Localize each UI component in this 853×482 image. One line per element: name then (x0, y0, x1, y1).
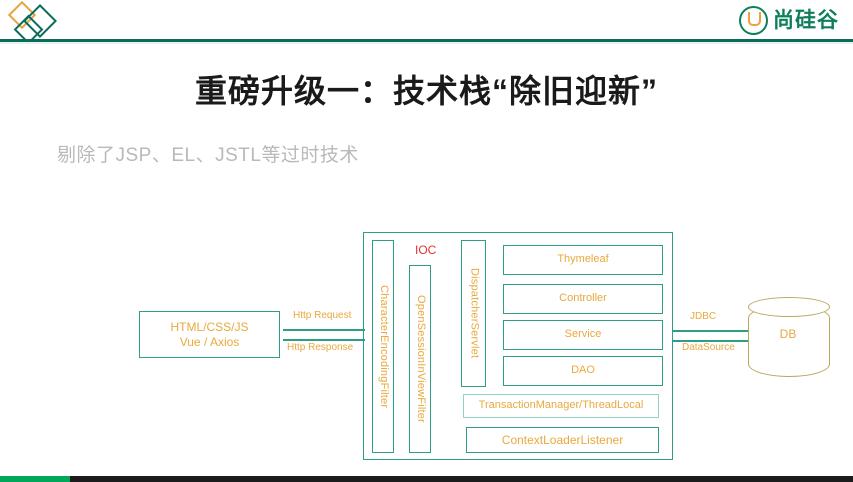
connector-label-datasource: DataSource (682, 342, 735, 353)
node-label: Service (565, 328, 602, 342)
diagram-node-transaction-manager: TransactionManager/ThreadLocal (463, 394, 659, 418)
node-label: DAO (571, 364, 595, 378)
slide-header (0, 0, 853, 42)
connector-line-http-response (283, 339, 365, 341)
diagram-node-open-session-in-view-filter: OpenSessionInViewFilter (409, 265, 431, 453)
diagram-node-controller: Controller (503, 284, 663, 314)
connector-label-http-request: Http Request (293, 310, 351, 321)
database-cylinder-top (748, 297, 830, 317)
connector-line-http-request (283, 329, 365, 331)
node-label: TransactionManager/ThreadLocal (479, 399, 644, 413)
node-label: Thymeleaf (557, 253, 608, 267)
header-divider-shadow (0, 42, 853, 44)
client-tech-frontend: HTML/CSS/JS (170, 320, 248, 335)
client-tech-framework: Vue / Axios (180, 335, 240, 350)
node-label: Controller (559, 292, 607, 306)
video-progress-fill[interactable] (0, 476, 70, 482)
diagram-node-dao: DAO (503, 356, 663, 386)
diagram-node-thymeleaf: Thymeleaf (503, 245, 663, 275)
connector-line-jdbc (673, 330, 751, 332)
node-label: ContextLoaderListener (502, 433, 623, 448)
brand-logo: 尚硅谷 (739, 6, 839, 34)
database-label: DB (748, 327, 828, 341)
page-title: 重磅升级一：技术栈“除旧迎新” (0, 66, 853, 112)
u-circle-icon (739, 6, 768, 35)
diagram-node-client: HTML/CSS/JS Vue / Axios (139, 311, 280, 358)
atguigu-diamonds-logo (8, 2, 70, 42)
video-progress-bar[interactable] (0, 476, 853, 482)
diagram-container-ioc-label: IOC (415, 243, 436, 257)
brand-logo-text: 尚硅谷 (773, 10, 839, 31)
diagram-node-context-loader-listener: ContextLoaderListener (466, 427, 659, 453)
page-subtitle: 剔除了JSP、EL、JSTL等过时技术 (57, 140, 359, 167)
diagram-node-character-encoding-filter: CharacterEncodingFilter (372, 240, 394, 453)
slide-canvas: 尚硅谷 重磅升级一：技术栈“除旧迎新” 剔除了JSP、EL、JSTL等过时技术 … (0, 0, 853, 482)
node-label: DispatcherServlet (467, 268, 481, 358)
diagram-node-service: Service (503, 320, 663, 350)
diagram-node-dispatcher-servlet: DispatcherServlet (461, 240, 486, 387)
node-label: CharacterEncodingFilter (376, 285, 390, 408)
node-label: OpenSessionInViewFilter (413, 295, 427, 423)
connector-label-jdbc: JDBC (690, 311, 716, 322)
connector-label-http-response: Http Response (287, 342, 353, 353)
